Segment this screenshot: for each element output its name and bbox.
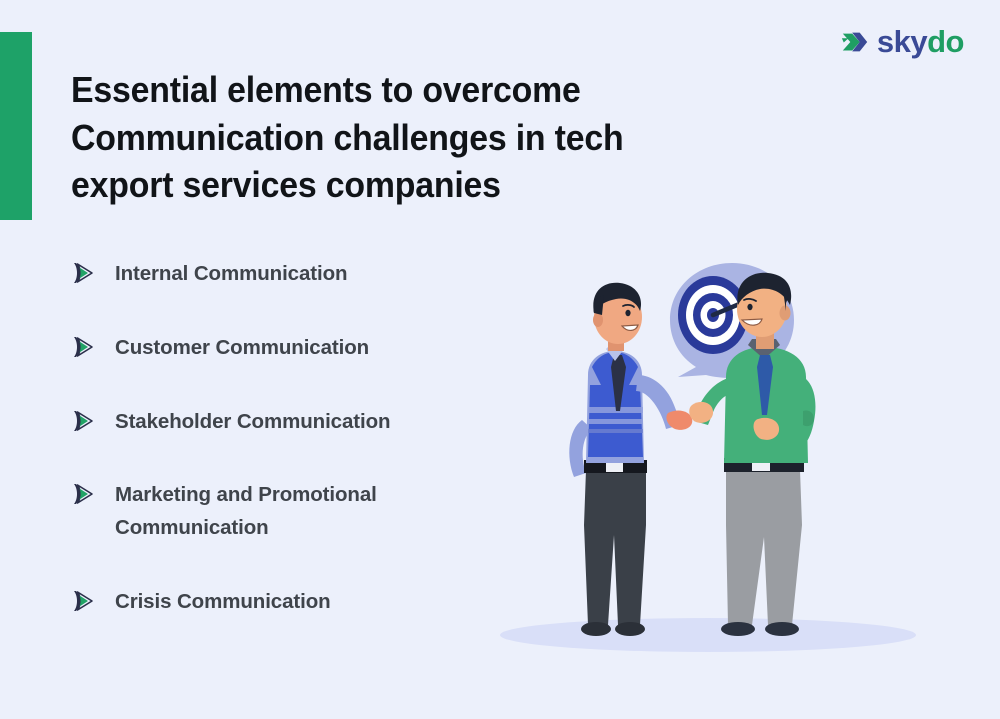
skydo-logo[interactable]: skydo: [840, 26, 964, 57]
list-item-label: Customer Communication: [115, 332, 369, 365]
communication-elements-list: Internal Communication Customer Communic…: [70, 258, 490, 619]
list-item: Stakeholder Communication: [70, 406, 490, 439]
skydo-wordmark: skydo: [877, 26, 964, 57]
ground-shadow-ellipse: [500, 618, 916, 652]
list-item: Marketing and Promotional Communication: [70, 479, 490, 545]
page-title: Essential elements to overcome Communica…: [71, 66, 691, 209]
list-item-label: Internal Communication: [115, 258, 347, 291]
green-arrow-chevron-bullet-icon: [70, 481, 96, 507]
list-item: Customer Communication: [70, 332, 490, 365]
list-item: Crisis Communication: [70, 586, 490, 619]
green-arrow-chevron-bullet-icon: [70, 588, 96, 614]
list-item-label: Stakeholder Communication: [115, 406, 390, 439]
illustration-two-people-talking: [470, 225, 970, 665]
left-accent-bar: [0, 32, 32, 220]
green-arrow-chevron-bullet-icon: [70, 260, 96, 286]
list-item-label: Crisis Communication: [115, 586, 331, 619]
green-arrow-chevron-bullet-icon: [70, 334, 96, 360]
list-item-label: Marketing and Promotional Communication: [115, 479, 465, 545]
list-item: Internal Communication: [70, 258, 490, 291]
logo-text-do: do: [927, 24, 964, 59]
logo-text-sky: sky: [877, 24, 927, 59]
skydo-chevron-logomark: [840, 27, 870, 57]
illustration-svg: [470, 225, 970, 665]
green-arrow-chevron-bullet-icon: [70, 408, 96, 434]
